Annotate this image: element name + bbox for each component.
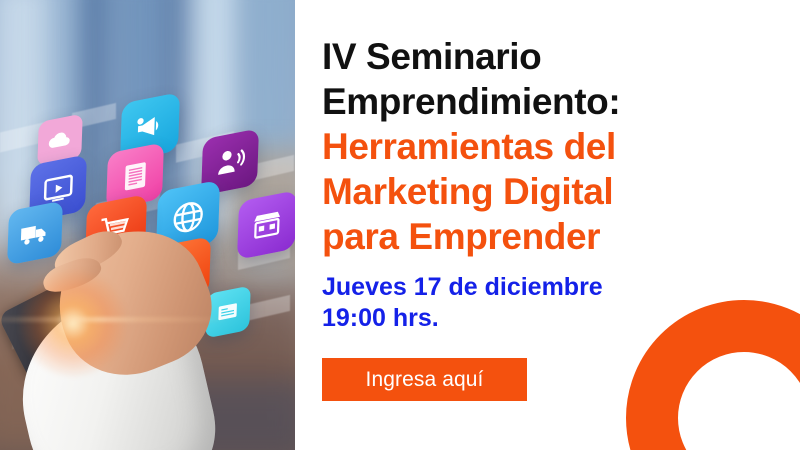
register-button[interactable]: Ingresa aquí bbox=[322, 358, 527, 401]
promotional-banner: IV Seminario Emprendimiento: Herramienta… bbox=[0, 0, 800, 450]
light-flare bbox=[18, 268, 128, 378]
headline-line-4: Marketing Digital bbox=[322, 169, 792, 214]
headline-line-5: para Emprender bbox=[322, 214, 792, 259]
event-time: 19:00 hrs. bbox=[322, 303, 792, 334]
headline-line-3: Herramientas del bbox=[322, 124, 792, 169]
content-panel: IV Seminario Emprendimiento: Herramienta… bbox=[295, 0, 800, 450]
headline-line-2: Emprendimiento: bbox=[322, 79, 792, 124]
headline-line-1: IV Seminario bbox=[322, 34, 792, 79]
event-datetime: Jueves 17 de diciembre 19:00 hrs. bbox=[322, 272, 792, 334]
event-date: Jueves 17 de diciembre bbox=[322, 272, 792, 303]
page-title: IV Seminario Emprendimiento: Herramienta… bbox=[322, 34, 792, 259]
storefront-icon bbox=[237, 190, 295, 260]
hero-photo bbox=[0, 0, 295, 450]
light-streak bbox=[0, 318, 230, 321]
